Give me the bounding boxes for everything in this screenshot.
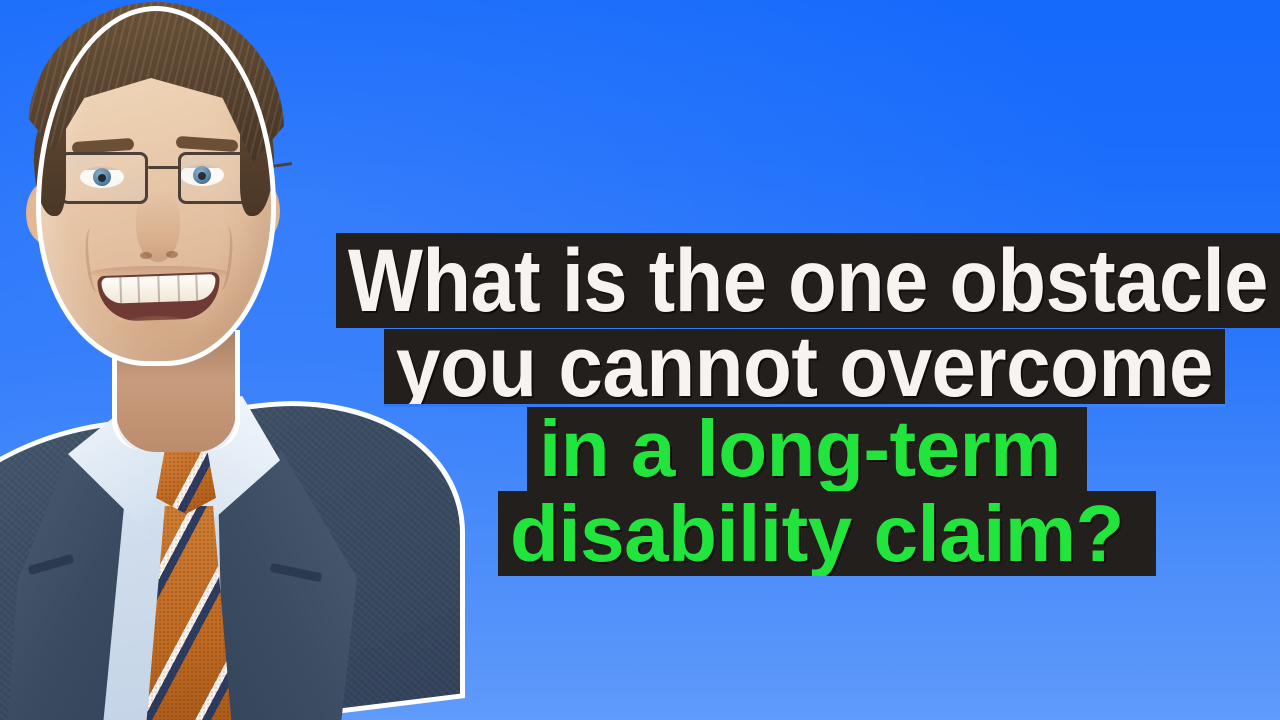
headline-line-4: disability claim? bbox=[498, 491, 1156, 576]
thumbnail-canvas: What is the one obstacle you cannot over… bbox=[0, 0, 1280, 720]
headline-line-3-text: in a long-term bbox=[539, 407, 1061, 491]
headline-line-4-text: disability claim? bbox=[510, 491, 1124, 576]
headline-line-3: in a long-term bbox=[527, 407, 1087, 491]
headline-line-1: What is the one obstacle bbox=[336, 233, 1280, 328]
headline-line-1-text: What is the one obstacle bbox=[348, 233, 1268, 328]
headline-overlay: What is the one obstacle you cannot over… bbox=[0, 0, 1280, 720]
headline-line-2: you cannot overcome bbox=[384, 329, 1225, 405]
headline-line-2-text: you cannot overcome bbox=[396, 329, 1213, 405]
